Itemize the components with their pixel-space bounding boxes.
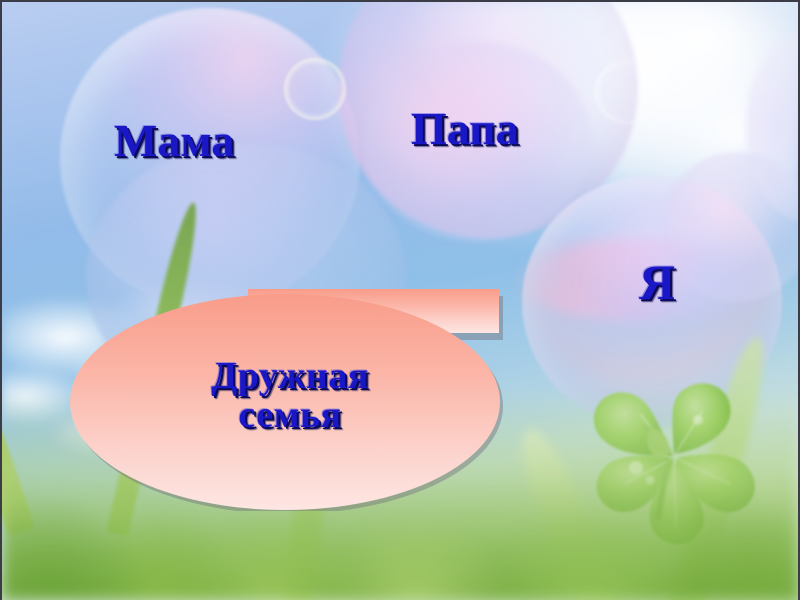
four-leaf-clover-icon xyxy=(562,352,792,572)
sky-background xyxy=(2,2,798,600)
grass-blade-right-icon xyxy=(664,333,774,600)
soap-bubble-right-edge-icon xyxy=(746,32,800,222)
label-ya: Я xyxy=(639,253,675,311)
grass-blade-left-icon xyxy=(0,149,35,536)
label-mama: Мама xyxy=(114,114,234,167)
grass-blade-right-second-icon xyxy=(510,423,630,600)
soap-bubble-small-ring-icon xyxy=(284,58,346,120)
presentation-slide: Дружная семья Мама Папа Я xyxy=(0,0,800,600)
callout-line-1: Дружная xyxy=(70,357,510,396)
callout-text: Дружная семья xyxy=(70,357,510,435)
grass-blade-center-icon xyxy=(281,301,352,600)
callout-line-2: семья xyxy=(70,396,510,435)
cloud-cluster-top-right-icon xyxy=(2,2,798,600)
cloud-cluster-left-icon xyxy=(2,2,798,600)
soap-bubble-small-ring-two-icon xyxy=(594,60,664,124)
soap-bubble-right-top-icon xyxy=(662,152,800,302)
label-papa: Папа xyxy=(411,102,519,155)
